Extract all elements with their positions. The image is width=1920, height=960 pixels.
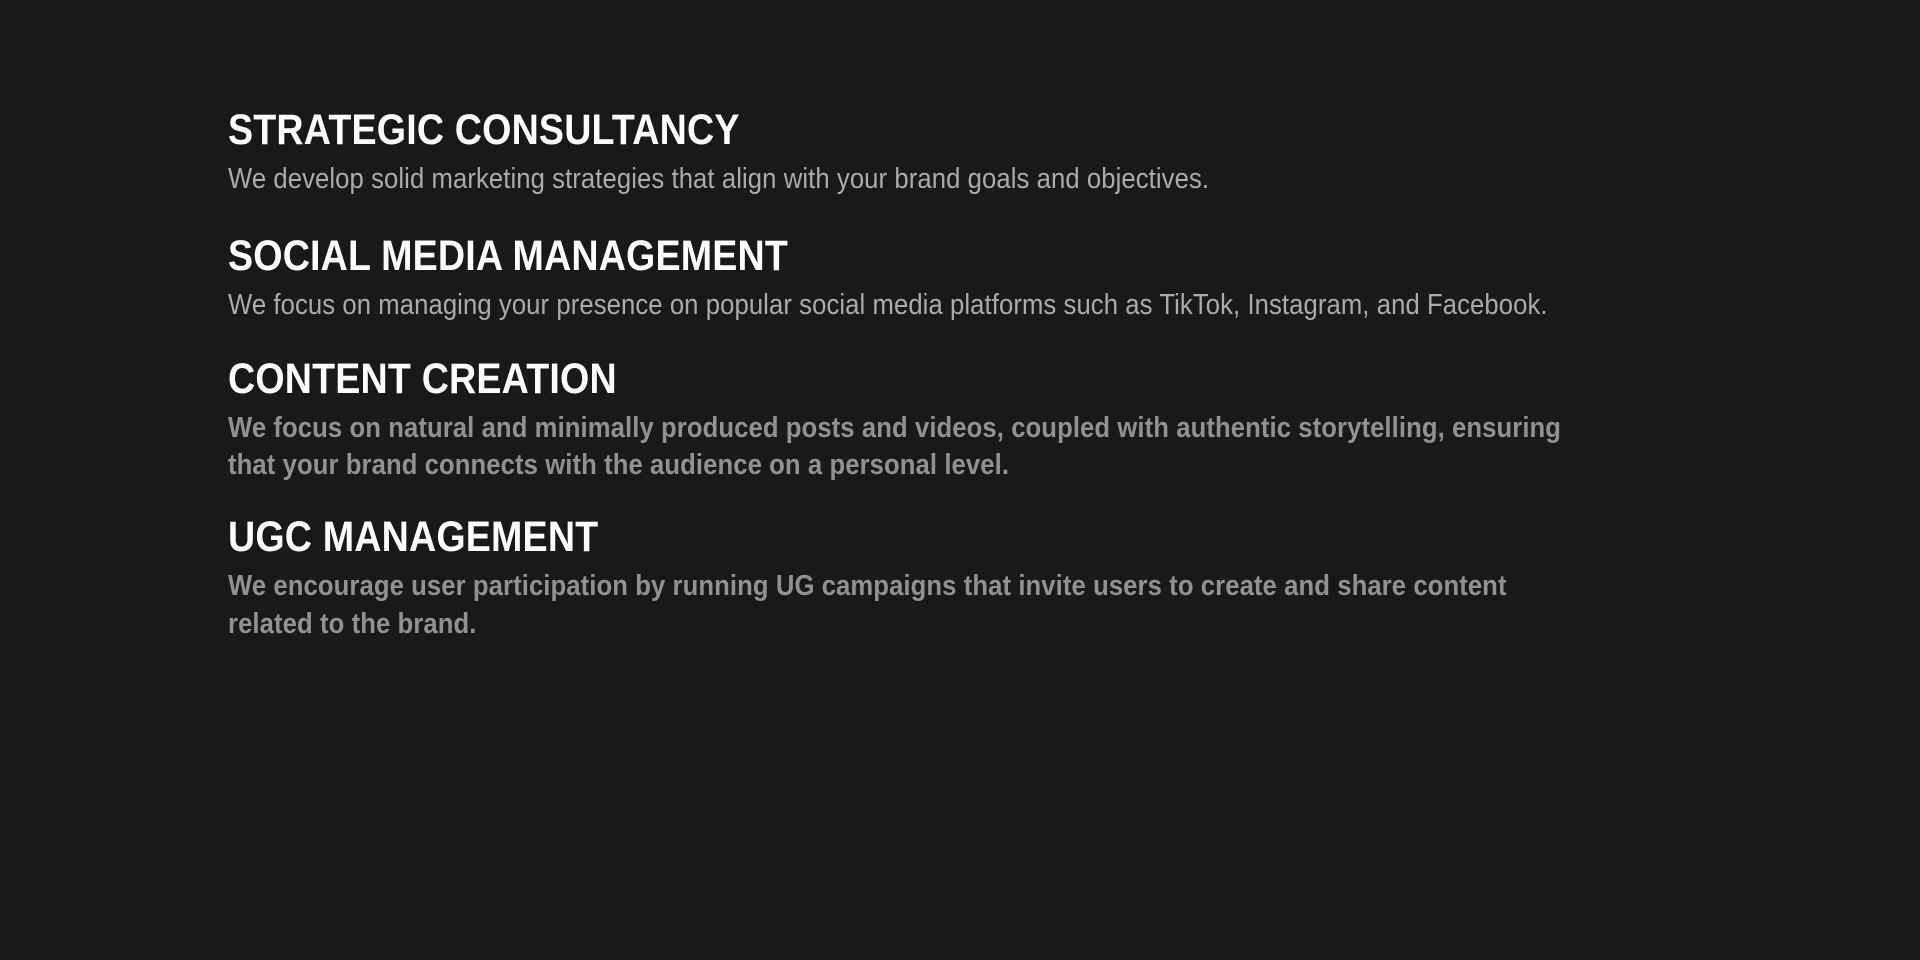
service-description: We develop solid marketing strategies th… [228,161,1569,199]
service-item: UGC MANAGEMENT We encourage user partici… [228,515,1920,643]
service-item: STRATEGIC CONSULTANCY We develop solid m… [228,108,1920,198]
service-description: We encourage user participation by runni… [228,568,1569,644]
service-title: SOCIAL MEDIA MANAGEMENT [228,234,1709,280]
service-title: CONTENT CREATION [228,357,1709,403]
service-title: UGC MANAGEMENT [228,515,1709,561]
service-description: We focus on natural and minimally produc… [228,410,1569,486]
services-slide: STRATEGIC CONSULTANCY We develop solid m… [0,0,1920,960]
service-item: CONTENT CREATION We focus on natural and… [228,357,1920,485]
service-description: We focus on managing your presence on po… [228,287,1569,325]
service-title: STRATEGIC CONSULTANCY [228,108,1709,154]
service-item: SOCIAL MEDIA MANAGEMENT We focus on mana… [228,234,1920,324]
services-list: STRATEGIC CONSULTANCY We develop solid m… [228,108,1920,644]
